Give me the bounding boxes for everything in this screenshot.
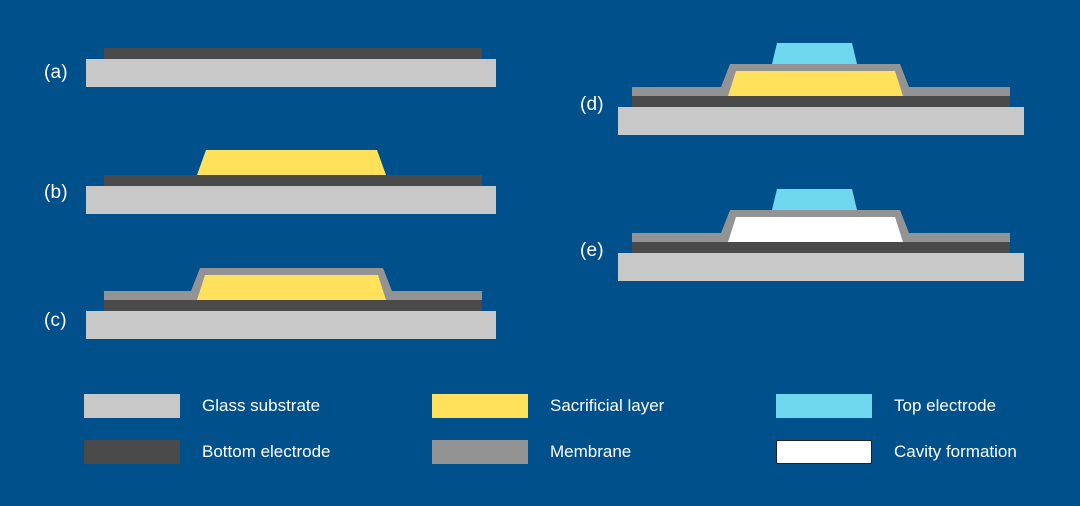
panel-label-d: (d) xyxy=(580,94,604,116)
legend-column-1: Glass substrate Bottom electrode xyxy=(84,388,434,478)
glass-substrate-swatch xyxy=(84,394,180,418)
sacrificial-layer xyxy=(197,150,386,175)
cavity-formation-swatch xyxy=(776,440,872,464)
bottom-electrode-swatch xyxy=(84,440,180,464)
sacrificial-layer-swatch xyxy=(432,394,528,418)
legend-item-bottom-electrode: Bottom electrode xyxy=(84,440,331,464)
panel-label-c: (c) xyxy=(44,310,67,332)
legend-label-top-electrode: Top electrode xyxy=(894,396,996,416)
legend: Glass substrate Bottom electrode Sacrifi… xyxy=(84,388,1044,478)
legend-label-bottom-electrode: Bottom electrode xyxy=(202,442,331,462)
legend-item-membrane: Membrane xyxy=(432,440,631,464)
legend-item-top-electrode: Top electrode xyxy=(776,394,996,418)
glass-substrate-layer xyxy=(618,107,1024,135)
glass-substrate-layer xyxy=(86,186,496,214)
legend-label-glass-substrate: Glass substrate xyxy=(202,396,320,416)
membrane-swatch xyxy=(432,440,528,464)
legend-item-sacrificial-layer: Sacrificial layer xyxy=(432,394,664,418)
bottom-electrode-layer xyxy=(632,242,1010,253)
top-electrode-layer xyxy=(772,43,857,64)
bottom-electrode-layer xyxy=(104,48,482,59)
panel-label-b: (b) xyxy=(44,182,68,204)
legend-label-cavity-formation: Cavity formation xyxy=(894,442,1017,462)
panel-c-diagram xyxy=(86,266,496,336)
top-electrode-layer xyxy=(772,189,857,210)
glass-substrate-layer xyxy=(618,253,1024,281)
bottom-electrode-layer xyxy=(104,300,482,311)
panel-b-diagram xyxy=(86,145,496,209)
panel-e-diagram xyxy=(618,186,1024,268)
panel-a-diagram xyxy=(86,48,496,93)
legend-item-glass-substrate: Glass substrate xyxy=(84,394,320,418)
figure-canvas: (a) (b) (c) (d) xyxy=(0,0,1080,506)
panel-d-diagram xyxy=(618,40,1024,122)
cavity-formation-layer xyxy=(728,217,903,242)
legend-column-2: Sacrificial layer Membrane xyxy=(432,388,782,478)
bottom-electrode-layer xyxy=(632,96,1010,107)
legend-item-cavity-formation: Cavity formation xyxy=(776,440,1017,464)
sacrificial-layer xyxy=(197,275,386,300)
panel-label-a: (a) xyxy=(44,62,68,84)
sacrificial-layer xyxy=(728,71,903,96)
panel-label-e: (e) xyxy=(580,240,604,262)
glass-substrate-layer xyxy=(86,59,496,87)
legend-label-membrane: Membrane xyxy=(550,442,631,462)
legend-column-3: Top electrode Cavity formation xyxy=(776,388,1080,478)
glass-substrate-layer xyxy=(86,311,496,339)
top-electrode-swatch xyxy=(776,394,872,418)
legend-label-sacrificial-layer: Sacrificial layer xyxy=(550,396,664,416)
bottom-electrode-layer xyxy=(104,175,482,186)
